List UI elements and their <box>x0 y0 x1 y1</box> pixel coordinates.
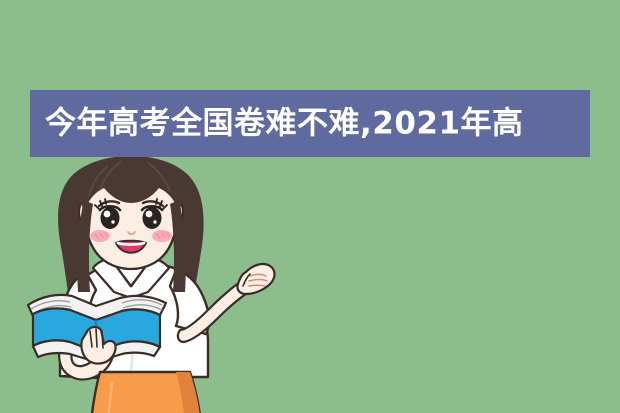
page-title: 今年高考全国卷难不难,2021年高 <box>45 108 524 139</box>
title-banner: 今年高考全国卷难不难,2021年高 <box>30 90 590 157</box>
article-cover: 今年高考全国卷难不难,2021年高 <box>0 0 620 413</box>
presenting-arm <box>170 264 275 342</box>
orange-skirt <box>90 372 202 413</box>
student-illustration <box>0 0 620 413</box>
